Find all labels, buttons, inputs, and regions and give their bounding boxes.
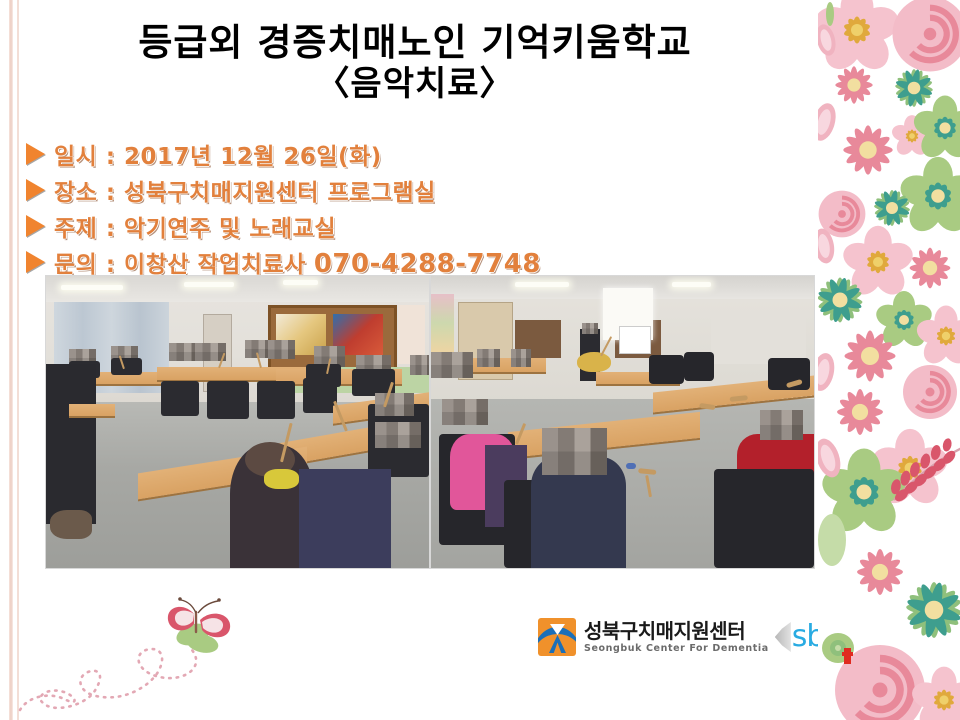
title-line-1: 등급외 경증치매노인 기억키움학교: [35, 22, 795, 63]
bullet-item-location: 장소 : 성북구치매지원센터 프로그램실: [26, 172, 806, 208]
photo-classroom-right: [431, 276, 814, 568]
page-title: 등급외 경증치매노인 기억키움학교 〈음악치료〉: [35, 22, 795, 104]
butterfly-decoration: [6, 592, 296, 717]
triangle-bullet-icon: [26, 251, 45, 273]
butterfly-icon: [168, 597, 230, 655]
bullet-item-date: 일시 : 2017년 12월 26일(화): [26, 136, 806, 172]
bullet-item-topic: 주제 : 악기연주 및 노래교실: [26, 208, 806, 244]
photo-classroom-left: [46, 276, 429, 568]
seongbuk-logo-icon: [538, 618, 576, 656]
contact-phone-number: 070-4288-7748: [314, 249, 541, 279]
bullet-text-contact: 문의 : 이창산 작업치료사070-4288-7748: [54, 245, 541, 279]
triangle-bullet-icon: [26, 179, 45, 201]
photo-strip: [46, 276, 814, 568]
swoosh-icon: [775, 622, 791, 652]
floral-pattern: [818, 0, 960, 720]
logo-text-block: 성북구치매지원센터 Seongbuk Center For Dementia: [584, 621, 769, 654]
slide-canvas: 등급외 경증치매노인 기억키움학교 〈음악치료〉 일시 : 2017년 12월 …: [0, 0, 960, 720]
logo-name-english: Seongbuk Center For Dementia: [584, 643, 769, 654]
info-bullet-list: 일시 : 2017년 12월 26일(화) 장소 : 성북구치매지원센터 프로그…: [26, 136, 806, 280]
triangle-bullet-icon: [26, 215, 45, 237]
logo-name-korean: 성북구치매지원센터: [584, 621, 769, 642]
title-line-2: 〈음악치료〉: [35, 65, 795, 103]
butterfly-trail: [20, 649, 196, 710]
bullet-text-location: 장소 : 성북구치매지원센터 프로그램실: [54, 173, 436, 207]
contact-person: 문의 : 이창산 작업치료사: [54, 252, 306, 278]
triangle-bullet-icon: [26, 143, 45, 165]
bullet-text-date: 일시 : 2017년 12월 26일(화): [54, 137, 382, 171]
floral-border-panel: [818, 0, 960, 720]
bullet-text-topic: 주제 : 악기연주 및 노래교실: [54, 209, 336, 243]
organization-logo: 성북구치매지원센터 Seongbuk Center For Dementia s…: [538, 614, 824, 660]
bullet-item-contact: 문의 : 이창산 작업치료사070-4288-7748: [26, 244, 806, 280]
